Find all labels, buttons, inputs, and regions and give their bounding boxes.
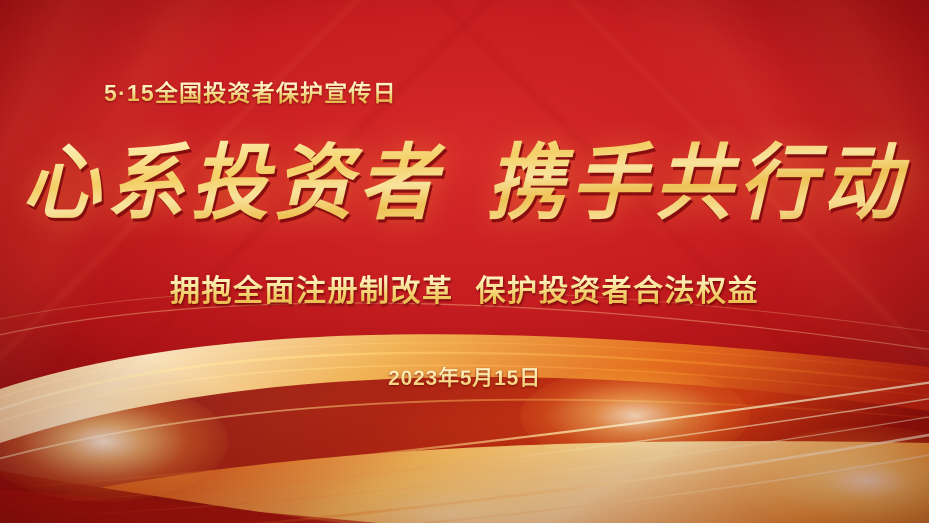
subtitle: 拥抱全面注册制改革保护投资者合法权益 (0, 266, 929, 310)
headline-phrase-right: 携手共行动 (487, 135, 907, 231)
campaign-day-label: 5·15全国投资者保护宣传日 (104, 80, 397, 108)
poster-canvas: 5·15全国投资者保护宣传日 心系投资者携手共行动 拥抱全面注册制改革保护投资者… (0, 0, 929, 523)
poster-text-content: 5·15全国投资者保护宣传日 心系投资者携手共行动 拥抱全面注册制改革保护投资者… (0, 0, 929, 523)
headline: 心系投资者携手共行动 (0, 137, 929, 230)
subtitle-phrase-right: 保护投资者合法权益 (476, 275, 760, 308)
event-date: 2023年5月15日 (0, 362, 929, 392)
headline-phrase-left: 心系投资者 (22, 135, 442, 231)
subtitle-phrase-left: 拥抱全面注册制改革 (170, 275, 454, 308)
